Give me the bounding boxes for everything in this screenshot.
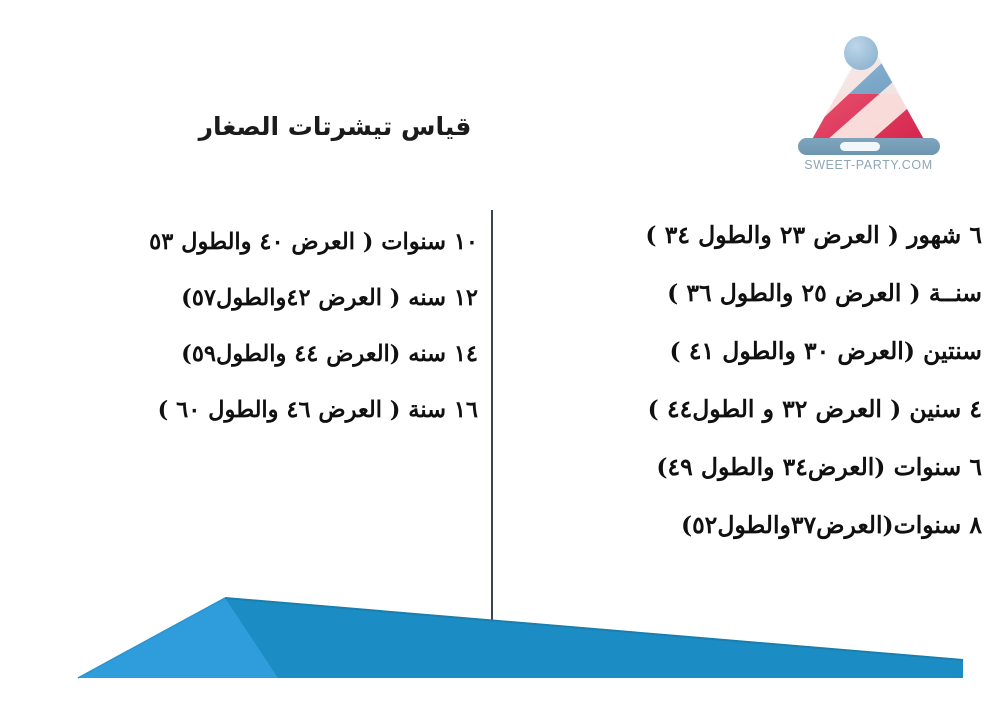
size-row: سنتين (العرض ٣٠ والطول ٤١ ) — [512, 322, 982, 380]
blue-wedge-banner — [0, 560, 1000, 714]
size-row: ١٠ سنوات ( العرض ٤٠ والطول ٥٣ — [10, 214, 478, 270]
size-row: ١٤ سنه (العرض ٤٤ والطول٥٩) — [10, 326, 478, 382]
poster-root: SWEET-PARTY.COM قياس تيشرتات الصغار ٦ شه… — [0, 0, 1000, 714]
size-row: ٦ سنوات (العرض٣٤ والطول ٤٩) — [512, 438, 982, 496]
size-row: سنــة ( العرض ٢٥ والطول ٣٦ ) — [512, 264, 982, 322]
pom-pom-icon — [844, 36, 878, 70]
size-row: ٤ سنين ( العرض ٣٢ و الطول٤٤ ) — [512, 380, 982, 438]
sizes-column-small: ٦ شهور ( العرض ٢٣ والطول ٣٤ ) سنــة ( ال… — [512, 206, 982, 554]
hat-base-highlight — [840, 142, 880, 151]
brand-caption: SWEET-PARTY.COM — [786, 158, 951, 172]
column-divider — [491, 210, 493, 657]
size-row: ٨ سنوات(العرض٣٧والطول٥٢) — [512, 496, 982, 554]
size-row: ١٦ سنة ( العرض ٤٦ والطول ٦٠ ) — [10, 382, 478, 438]
size-row: ٦ شهور ( العرض ٢٣ والطول ٣٤ ) — [512, 206, 982, 264]
sizes-column-large: ١٠ سنوات ( العرض ٤٠ والطول ٥٣ ١٢ سنه ( ا… — [10, 214, 478, 438]
page-title: قياس تيشرتات الصغار — [0, 112, 1000, 141]
brand-logo: SWEET-PARTY.COM — [786, 14, 951, 174]
size-row: ١٢ سنه ( العرض ٤٢والطول٥٧) — [10, 270, 478, 326]
